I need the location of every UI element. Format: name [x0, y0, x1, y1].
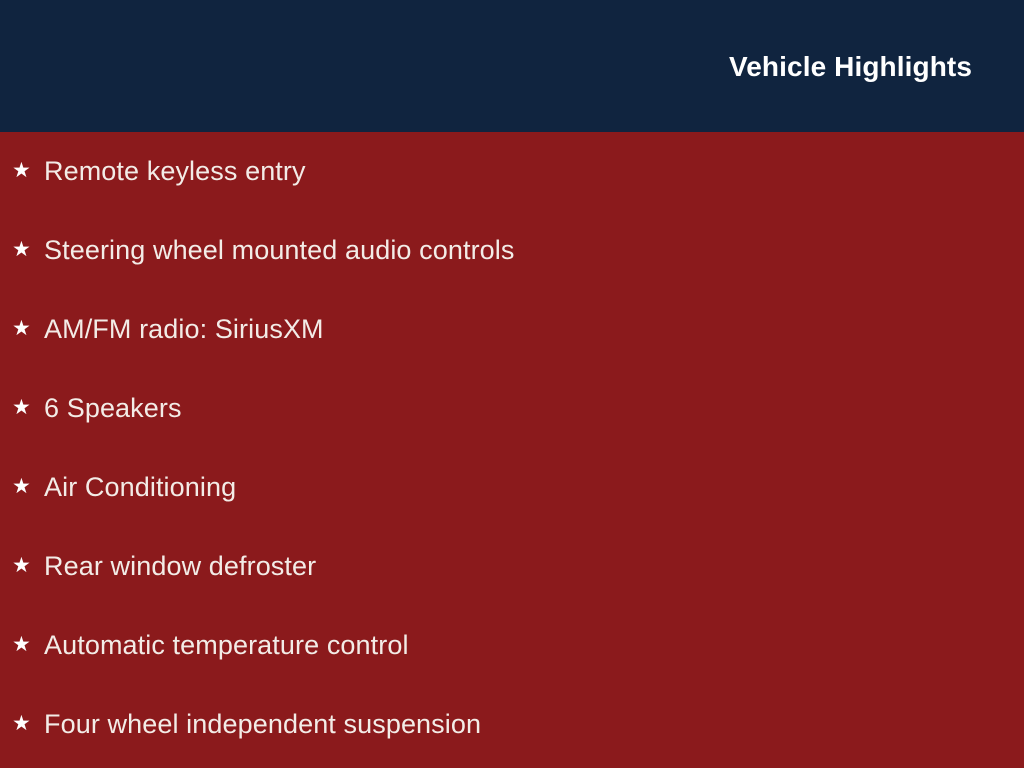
- list-item: ★ Automatic temperature control: [0, 606, 1024, 685]
- star-bullet-icon: ★: [12, 239, 44, 260]
- star-bullet-icon: ★: [12, 476, 44, 497]
- list-item-label: Automatic temperature control: [44, 630, 409, 661]
- list-item-label: Remote keyless entry: [44, 156, 306, 187]
- slide-body: ★ Remote keyless entry ★ Steering wheel …: [0, 132, 1024, 768]
- list-item: ★ Air Conditioning: [0, 448, 1024, 527]
- star-bullet-icon: ★: [12, 555, 44, 576]
- star-bullet-icon: ★: [12, 397, 44, 418]
- list-item: ★ Remote keyless entry: [0, 132, 1024, 211]
- page-title: Vehicle Highlights: [729, 53, 972, 81]
- list-item-label: Four wheel independent suspension: [44, 709, 481, 740]
- star-bullet-icon: ★: [12, 713, 44, 734]
- slide-header: Vehicle Highlights: [0, 0, 1024, 132]
- list-item: ★ Rear window defroster: [0, 527, 1024, 606]
- list-item-label: Air Conditioning: [44, 472, 236, 503]
- list-item: ★ Four wheel independent suspension: [0, 685, 1024, 764]
- list-item-label: Steering wheel mounted audio controls: [44, 235, 515, 266]
- star-bullet-icon: ★: [12, 634, 44, 655]
- list-item: ★ AM/FM radio: SiriusXM: [0, 290, 1024, 369]
- star-bullet-icon: ★: [12, 318, 44, 339]
- list-item-label: Rear window defroster: [44, 551, 316, 582]
- list-item: ★ Steering wheel mounted audio controls: [0, 211, 1024, 290]
- vehicle-highlights-slide: Vehicle Highlights ★ Remote keyless entr…: [0, 0, 1024, 768]
- vehicle-highlights-list: ★ Remote keyless entry ★ Steering wheel …: [0, 132, 1024, 764]
- list-item-label: 6 Speakers: [44, 393, 182, 424]
- list-item-label: AM/FM radio: SiriusXM: [44, 314, 324, 345]
- star-bullet-icon: ★: [12, 160, 44, 181]
- list-item: ★ 6 Speakers: [0, 369, 1024, 448]
